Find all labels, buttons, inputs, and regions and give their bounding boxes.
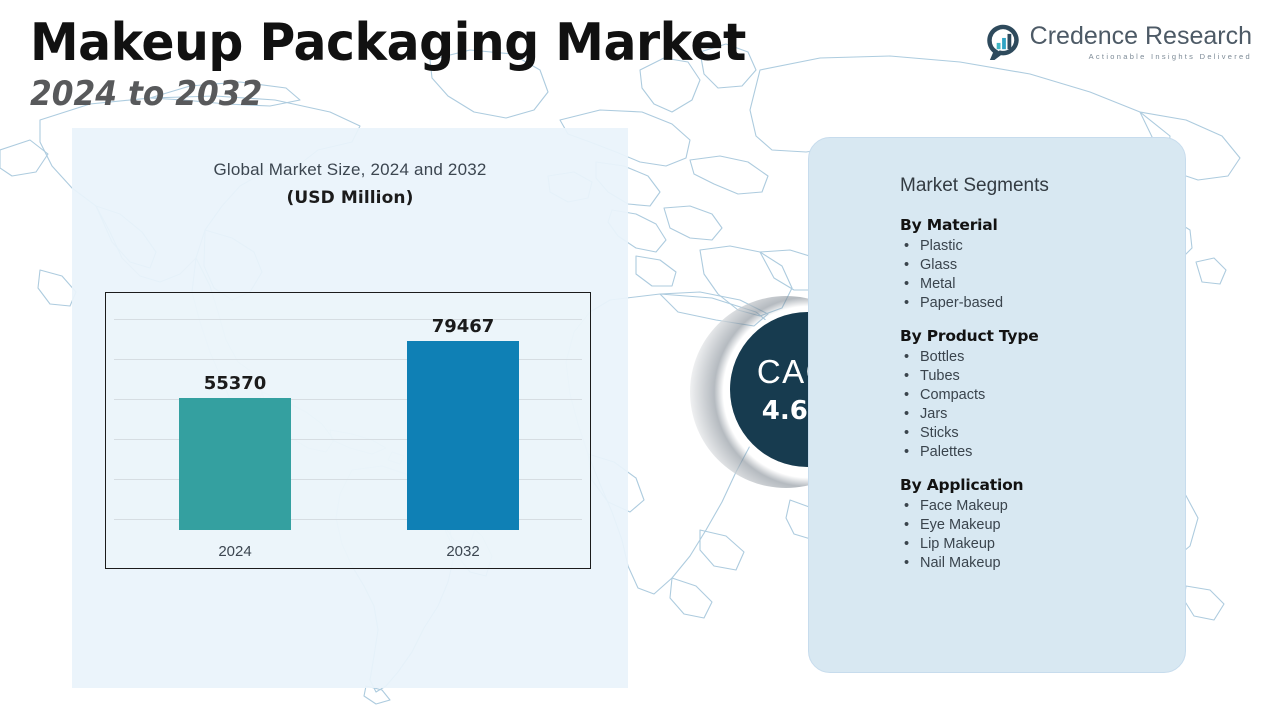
segment-list: •Bottles •Tubes •Compacts •Jars •Sticks … — [900, 348, 1170, 462]
category-label-2032: 2032 — [393, 543, 533, 560]
segment-item-label: Face Makeup — [920, 498, 1008, 514]
bullet-icon: • — [904, 497, 909, 516]
market-segments-groups: By Material •Plastic •Glass •Metal •Pape… — [900, 216, 1170, 587]
segment-item-label: Sticks — [920, 425, 959, 441]
segment-item: •Nail Makeup — [900, 554, 1170, 573]
segment-item-label: Bottles — [920, 349, 964, 365]
brand-name: Credence Research — [1030, 24, 1252, 49]
brand-logo-text: Credence Research Actionable Insights De… — [1030, 24, 1252, 61]
market-segments-title: Market Segments — [900, 175, 1049, 197]
segment-group-material: By Material •Plastic •Glass •Metal •Pape… — [900, 216, 1170, 313]
segment-item-label: Paper-based — [920, 295, 1003, 311]
bullet-icon: • — [904, 275, 909, 294]
bar-2024 — [179, 398, 291, 530]
segment-item: •Lip Makeup — [900, 535, 1170, 554]
segment-item: •Bottles — [900, 348, 1170, 367]
segment-item: •Glass — [900, 256, 1170, 275]
segment-item-label: Compacts — [920, 387, 985, 403]
chart-plot-area: 55370 79467 2024 2032 — [106, 293, 590, 568]
bullet-icon: • — [904, 535, 909, 554]
segment-item-label: Jars — [920, 406, 947, 422]
segment-item: •Compacts — [900, 386, 1170, 405]
bar-2032 — [407, 341, 519, 530]
segment-item: •Plastic — [900, 237, 1170, 256]
segment-item-label: Metal — [920, 276, 955, 292]
segment-item-label: Nail Makeup — [920, 555, 1001, 571]
segment-item: •Face Makeup — [900, 497, 1170, 516]
segment-group-title: By Material — [900, 216, 1170, 234]
header-title-block: Makeup Packaging Market 2024 to 2032 — [30, 16, 792, 112]
segment-group-title: By Application — [900, 476, 1170, 494]
bar-value-2032: 79467 — [393, 316, 533, 337]
segment-item: •Metal — [900, 275, 1170, 294]
bullet-icon: • — [904, 405, 909, 424]
bullet-icon: • — [904, 516, 909, 535]
bullet-icon: • — [904, 386, 909, 405]
segment-item-label: Glass — [920, 257, 957, 273]
segment-group-title: By Product Type — [900, 327, 1170, 345]
bullet-icon: • — [904, 424, 909, 443]
bullet-icon: • — [904, 294, 909, 313]
bullet-icon: • — [904, 348, 909, 367]
bullet-icon: • — [904, 443, 909, 462]
segment-item-label: Plastic — [920, 238, 963, 254]
bullet-icon: • — [904, 237, 909, 256]
bullet-icon: • — [904, 256, 909, 275]
brand-logo[interactable]: Credence Research Actionable Insights De… — [985, 24, 1252, 61]
bullet-icon: • — [904, 554, 909, 573]
segment-item: •Sticks — [900, 424, 1170, 443]
segment-group-product-type: By Product Type •Bottles •Tubes •Compact… — [900, 327, 1170, 462]
segment-item-label: Eye Makeup — [920, 517, 1001, 533]
segment-item-label: Palettes — [920, 444, 972, 460]
category-label-2024: 2024 — [165, 543, 305, 560]
page-title: Makeup Packaging Market — [30, 16, 746, 71]
segment-item-label: Tubes — [920, 368, 960, 384]
brand-tagline: Actionable Insights Delivered — [1030, 53, 1252, 61]
segment-item: •Paper-based — [900, 294, 1170, 313]
segment-list: •Face Makeup •Eye Makeup •Lip Makeup •Na… — [900, 497, 1170, 573]
bar-value-2024: 55370 — [165, 373, 305, 394]
segment-item: •Tubes — [900, 367, 1170, 386]
segment-group-application: By Application •Face Makeup •Eye Makeup … — [900, 476, 1170, 573]
bar-chart-bubble-icon — [985, 24, 1021, 60]
segment-item: •Jars — [900, 405, 1170, 424]
segment-item: •Eye Makeup — [900, 516, 1170, 535]
bar-chart: 55370 79467 2024 2032 — [105, 292, 591, 569]
page-subtitle: 2024 to 2032 — [30, 77, 731, 113]
segment-item-label: Lip Makeup — [920, 536, 995, 552]
segment-item: •Palettes — [900, 443, 1170, 462]
bullet-icon: • — [904, 367, 909, 386]
segment-list: •Plastic •Glass •Metal •Paper-based — [900, 237, 1170, 313]
infographic-canvas: Makeup Packaging Market 2024 to 2032 Cre… — [0, 0, 1280, 720]
